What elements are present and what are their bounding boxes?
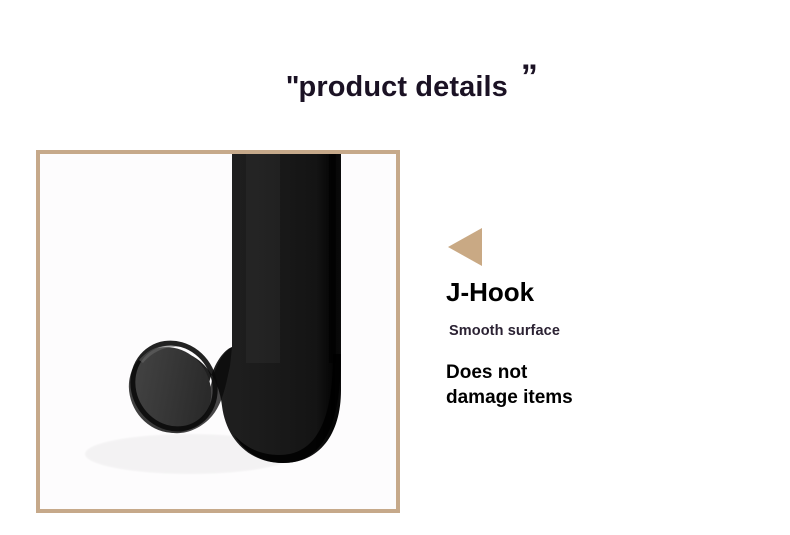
- left-arrow-icon: [448, 228, 482, 266]
- j-hook-illustration: [40, 154, 396, 509]
- page-title: "product details”: [0, 22, 790, 139]
- closing-quote-mark: ”: [521, 58, 537, 96]
- feature-no-damage-line-1: Does not: [446, 360, 746, 385]
- hook-tip: [113, 327, 231, 448]
- opening-quote-mark: ": [286, 71, 299, 103]
- product-photo: [40, 154, 396, 509]
- product-detail-page: "product details”: [0, 0, 790, 535]
- feature-smooth-surface: Smooth surface: [449, 323, 746, 340]
- product-photo-frame: [36, 150, 400, 513]
- hook-bar-right-edge: [329, 154, 336, 363]
- feature-no-damage: Does not damage items: [446, 360, 746, 411]
- page-title-text: product details: [299, 71, 508, 103]
- product-name: J-Hook: [446, 278, 746, 307]
- hook-bar-sheen: [246, 154, 280, 363]
- product-info-column: J-Hook Smooth surface Does not damage it…: [446, 228, 746, 411]
- feature-no-damage-line-2: damage items: [446, 385, 746, 410]
